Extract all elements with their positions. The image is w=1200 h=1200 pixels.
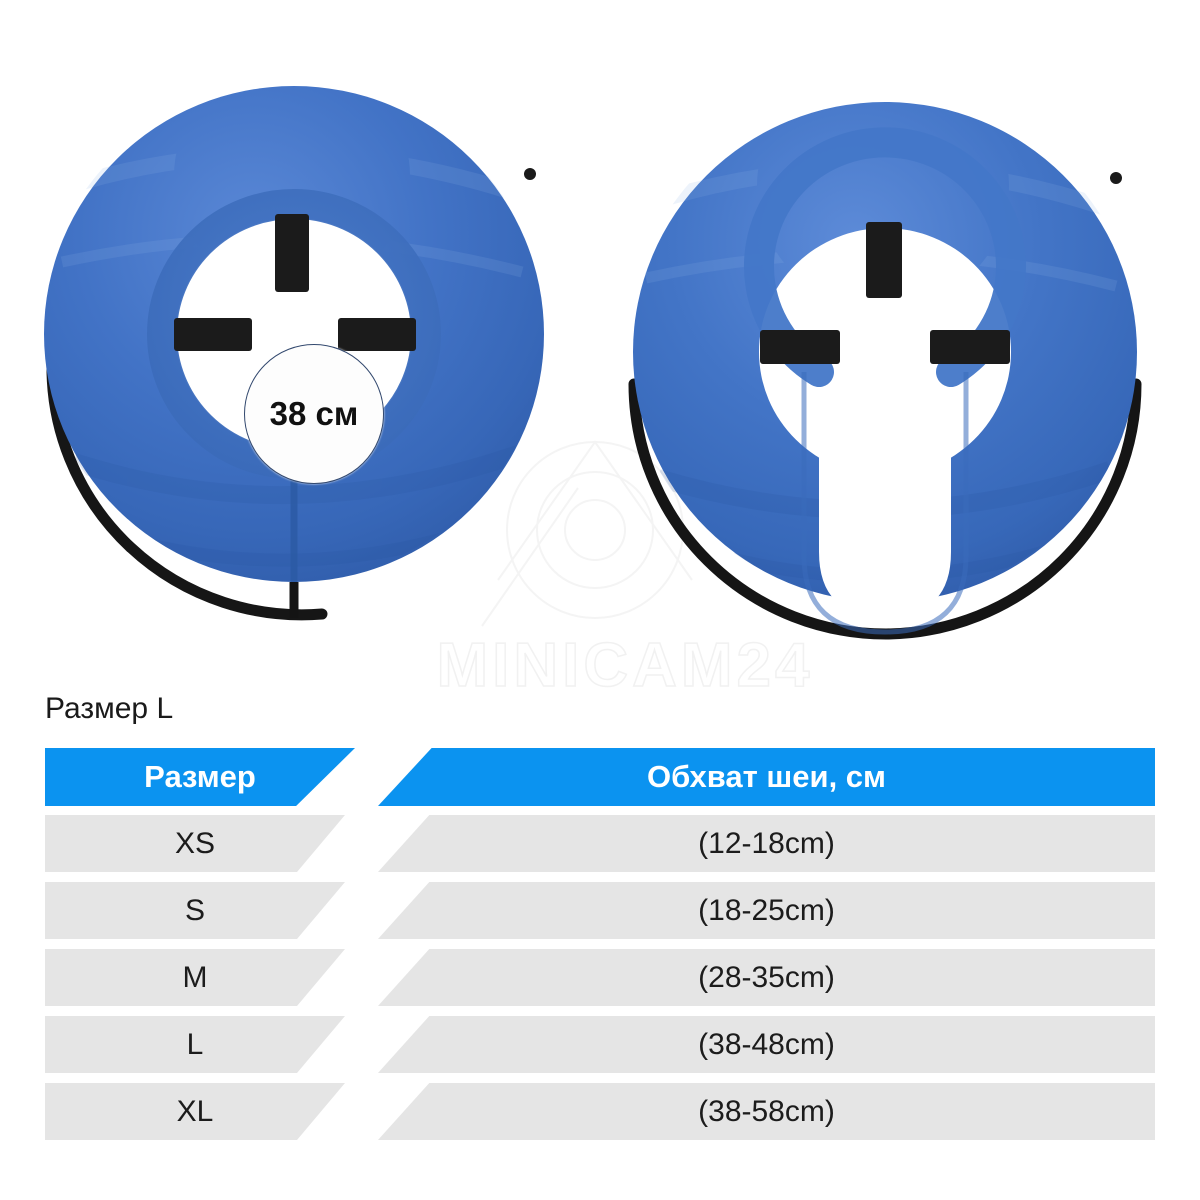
table-row: XS (12-18cm)	[45, 815, 1155, 882]
cell-neck: (12-18cm)	[378, 815, 1155, 872]
cell-neck: (28-35cm)	[378, 949, 1155, 1006]
cell-neck: (18-25cm)	[378, 882, 1155, 939]
velcro-strap-top	[275, 214, 309, 292]
velcro-strap-right	[338, 318, 416, 351]
header-cell-neck: Обхват шеи, см	[378, 748, 1155, 806]
cell-size: XS	[45, 815, 345, 872]
size-chart-table: Размер Обхват шеи, см XS (12-18cm) S (18…	[45, 748, 1155, 1168]
inflatable-collar-closed-photo: 38 см	[22, 62, 582, 642]
size-chart-title: Размер L	[45, 692, 173, 726]
table-row: M (28-35cm)	[45, 949, 1155, 1016]
table-row: L (38-48cm)	[45, 1016, 1155, 1083]
cell-size: S	[45, 882, 345, 939]
inflatable-collar-open-photo: 48см	[600, 72, 1170, 662]
cell-neck: (38-58cm)	[378, 1083, 1155, 1140]
table-row: S (18-25cm)	[45, 882, 1155, 949]
product-photo-area: MINICAM24	[0, 0, 1200, 680]
velcro-strap-left	[174, 318, 252, 351]
inflation-valve-icon	[1110, 172, 1122, 184]
velcro-strap-left	[760, 330, 840, 364]
header-cell-size: Размер	[45, 748, 355, 806]
size-chart-section: Размер L Размер Обхват шеи, см XS (12-18…	[0, 680, 1200, 1200]
table-header-row: Размер Обхват шеи, см	[45, 748, 1155, 815]
collar-outer-ring	[633, 102, 1137, 602]
velcro-strap-right	[930, 330, 1010, 364]
table-row: XL (38-58cm)	[45, 1083, 1155, 1150]
cell-size: XL	[45, 1083, 345, 1140]
collar-open-illustration	[600, 72, 1170, 662]
cell-size: M	[45, 949, 345, 1006]
velcro-strap-top	[866, 222, 902, 298]
size-label-circle-left: 38 см	[244, 344, 384, 484]
cell-neck: (38-48cm)	[378, 1016, 1155, 1073]
inflation-valve-icon	[524, 168, 536, 180]
cell-size: L	[45, 1016, 345, 1073]
